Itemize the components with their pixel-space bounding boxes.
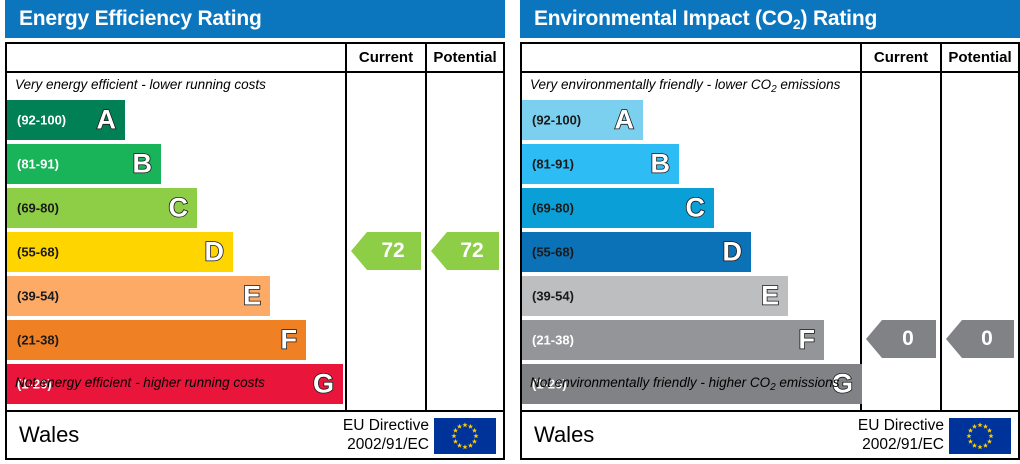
band-letter-f-environmental: F [799,327,816,354]
column-header-potential-environmental: Potential [942,44,1018,71]
eu-directive-text-energy: EU Directive 2002/91/EC [343,416,429,454]
panel-title-energy: Energy Efficiency Rating [5,0,505,38]
band-bars-energy: (92-100) A (81-91) B (69-80) C [7,100,343,408]
band-bar-c-energy: (69-80) C [7,188,197,228]
band-letter-d-energy: D [205,239,225,266]
band-letter-b-environmental: B [651,151,671,178]
band-range-b-environmental: (81-91) [532,157,574,172]
eu-flag-icon-energy [434,418,496,454]
band-row-b-energy: (81-91) B [7,144,343,184]
band-range-d-environmental: (55-68) [532,245,574,260]
rating-arrow-current-energy: 72 [351,232,421,270]
eu-directive-line2-environmental: 2002/91/EC [858,435,944,454]
rating-arrow-potential-environmental: 0 [946,320,1014,358]
band-row-e-energy: (39-54) E [7,276,343,316]
eu-directive-line2-energy: 2002/91/EC [343,435,429,454]
band-bar-b-environmental: (81-91) B [522,144,679,184]
panel-energy-efficiency: Energy Efficiency Rating Current Potenti… [5,0,505,464]
band-range-f-energy: (21-38) [17,333,59,348]
band-row-f-energy: (21-38) F [7,320,343,360]
band-letter-e-energy: E [243,283,261,310]
band-bar-e-environmental: (39-54) E [522,276,788,316]
band-bar-f-environmental: (21-38) F [522,320,824,360]
band-range-d-energy: (55-68) [17,245,59,260]
rating-value-potential-energy: 72 [460,239,483,262]
rating-value-potential-environmental: 0 [981,327,993,350]
note-bottom-environmental-text: Not environmentally friendly - higher CO [530,375,770,390]
band-letter-e-environmental: E [761,283,779,310]
band-row-a-environmental: (92-100) A [522,100,858,140]
band-letter-d-environmental: D [723,239,743,266]
column-header-potential-energy: Potential [427,44,503,71]
note-bottom-energy: Not energy efficient - higher running co… [15,375,265,390]
rating-arrow-potential-energy: 72 [431,232,499,270]
epc-rating-charts: Energy Efficiency Rating Current Potenti… [0,0,1020,464]
table-header-row-environmental: Current Potential [522,44,1018,73]
band-letter-f-energy: F [281,327,298,354]
band-range-a-energy: (92-100) [17,113,66,128]
note-bottom-environmental-tail: emissions [776,375,840,390]
band-letter-a-environmental: A [615,107,635,134]
note-top-energy-text: Very energy efficient - lower running co… [15,77,266,92]
note-bottom-environmental: Not environmentally friendly - higher CO… [530,375,839,390]
note-bottom-energy-text: Not energy efficient - higher running co… [15,375,265,390]
band-row-f-environmental: (21-38) F [522,320,858,360]
band-row-e-environmental: (39-54) E [522,276,858,316]
band-range-c-environmental: (69-80) [532,201,574,216]
band-bar-a-environmental: (92-100) A [522,100,643,140]
footer-energy: Wales EU Directive 2002/91/EC [5,412,505,460]
table-header-row-energy: Current Potential [7,44,503,73]
band-range-e-environmental: (39-54) [532,289,574,304]
band-range-a-environmental: (92-100) [532,113,581,128]
band-bar-e-energy: (39-54) E [7,276,270,316]
column-divider-2-energy [425,44,427,410]
band-row-d-energy: (55-68) D [7,232,343,272]
rating-arrow-current-environmental: 0 [866,320,936,358]
footer-environmental: Wales EU Directive 2002/91/EC [520,412,1020,460]
band-bars-environmental: (92-100) A (81-91) B (69-80) C [522,100,858,408]
note-bottom-co2-subscript: 2 [770,382,776,393]
band-row-c-energy: (69-80) C [7,188,343,228]
rating-value-current-environmental: 0 [902,327,914,350]
note-top-co2-subscript: 2 [771,84,777,95]
panel-environmental-impact: Environmental Impact (CO2) Rating Curren… [520,0,1020,464]
band-range-f-environmental: (21-38) [532,333,574,348]
band-row-a-energy: (92-100) A [7,100,343,140]
rating-value-current-energy: 72 [381,239,404,262]
note-top-environmental-text: Very environmentally friendly - lower CO [530,77,771,92]
panel-title-environmental: Environmental Impact (CO2) Rating [520,0,1020,38]
band-letter-b-energy: B [133,151,153,178]
note-top-energy: Very energy efficient - lower running co… [15,77,266,92]
band-bar-d-environmental: (55-68) D [522,232,751,272]
note-top-environmental-tail: emissions [777,77,841,92]
band-letter-c-environmental: C [686,195,706,222]
band-letter-a-energy: A [97,107,117,134]
band-range-e-energy: (39-54) [17,289,59,304]
panel-title-environmental-text: Environmental Impact (CO [534,7,793,30]
chart-table-environmental: Current Potential Very environmentally f… [520,42,1020,412]
panel-title-co2-subscript: 2 [793,16,801,32]
column-divider-2-environmental [940,44,942,410]
note-top-environmental: Very environmentally friendly - lower CO… [530,77,840,92]
band-range-c-energy: (69-80) [17,201,59,216]
chart-table-energy: Current Potential Very energy efficient … [5,42,505,412]
band-row-b-environmental: (81-91) B [522,144,858,184]
column-divider-1-environmental [860,44,862,410]
band-bar-b-energy: (81-91) B [7,144,161,184]
band-range-b-energy: (81-91) [17,157,59,172]
panel-title-environmental-tail: ) Rating [801,7,878,30]
band-letter-c-energy: C [169,195,189,222]
eu-flag-icon-environmental [949,418,1011,454]
column-divider-1-energy [345,44,347,410]
band-bar-c-environmental: (69-80) C [522,188,714,228]
band-bar-f-energy: (21-38) F [7,320,306,360]
region-label-environmental: Wales [534,422,594,448]
band-bar-a-energy: (92-100) A [7,100,125,140]
eu-directive-line1-environmental: EU Directive [858,416,944,435]
band-bar-d-energy: (55-68) D [7,232,233,272]
eu-directive-line1-energy: EU Directive [343,416,429,435]
column-header-current-environmental: Current [862,44,940,71]
band-row-c-environmental: (69-80) C [522,188,858,228]
column-header-current-energy: Current [347,44,425,71]
panel-title-energy-text: Energy Efficiency Rating [19,7,262,30]
band-row-d-environmental: (55-68) D [522,232,858,272]
eu-directive-text-environmental: EU Directive 2002/91/EC [858,416,944,454]
band-letter-g-energy: G [313,371,334,398]
region-label-energy: Wales [19,422,79,448]
